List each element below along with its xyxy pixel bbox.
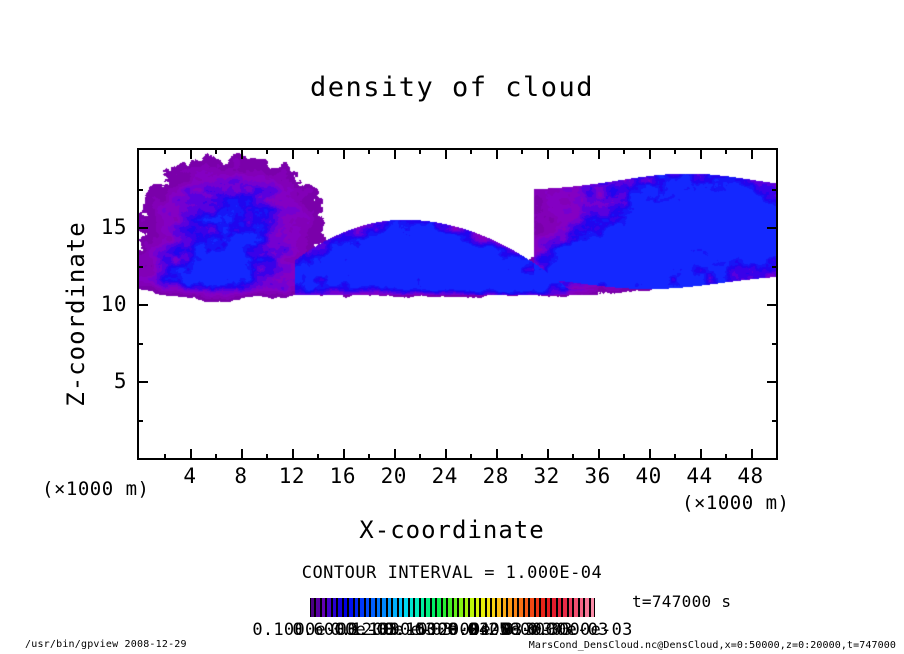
x-axis-unit-right: (×1000 m) — [682, 492, 789, 514]
x-axis-tick-label: 24 — [432, 464, 458, 488]
colorbar-swatch — [590, 598, 595, 617]
contour-field — [139, 150, 776, 458]
contour-interval-label: CONTOUR INTERVAL = 1.000E-04 — [0, 563, 904, 583]
x-axis-unit-left: (×1000 m) — [42, 478, 149, 500]
page-title: density of cloud — [0, 72, 904, 103]
x-axis-tick-label: 48 — [737, 464, 763, 488]
colorbar — [310, 598, 595, 617]
x-axis-tick-label: 28 — [483, 464, 509, 488]
colorbar-tick-label: 0.3000e-03 — [527, 620, 632, 640]
x-axis-title: X-coordinate — [0, 516, 904, 544]
x-axis-tick-label: 40 — [635, 464, 661, 488]
x-axis-tick-label: 36 — [584, 464, 610, 488]
y-axis-title: Z-coordinate — [62, 184, 90, 444]
footer-command-label: /usr/bin/gpview 2008-12-29 — [25, 639, 187, 650]
contour-plot-area — [137, 148, 778, 460]
colorbar-tick-labels: 0.1000e-030.6000e-030.1200e-030.1000e-03… — [0, 620, 904, 640]
x-axis-tick-label: 16 — [330, 464, 356, 488]
x-axis-tick-label: 32 — [534, 464, 560, 488]
time-stamp-label: t=747000 s — [632, 592, 731, 611]
x-axis-tick-label: 20 — [381, 464, 407, 488]
x-axis-tick-label: 4 — [183, 464, 196, 488]
x-axis-tick-label: 8 — [234, 464, 247, 488]
x-axis-tick-label: 44 — [686, 464, 712, 488]
x-axis-tick-label: 12 — [279, 464, 305, 488]
footer-dataset-label: MarsCond_DensCloud.nc@DensCloud,x=0:5000… — [529, 640, 896, 651]
